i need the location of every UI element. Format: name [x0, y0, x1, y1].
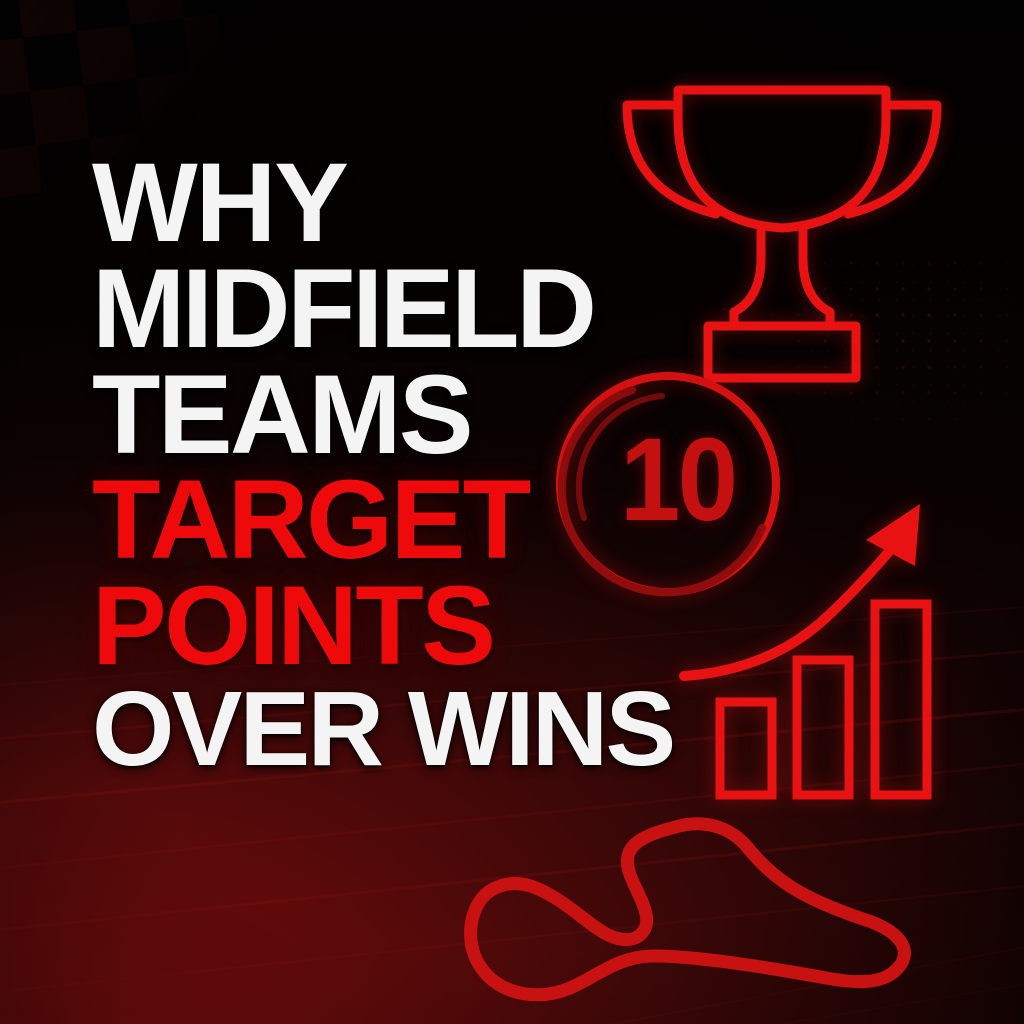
headline-line-4: TARGET — [92, 467, 712, 573]
pixel-texture-icon — [760, 250, 1024, 450]
headline-line-5: POINTS — [92, 573, 712, 679]
headline-line-1: WHY — [92, 150, 712, 256]
headline-line-3: TEAMS — [92, 362, 712, 468]
race-track-icon — [430, 800, 950, 1010]
growth-chart-icon — [668, 488, 964, 810]
headline-line-2: MIDFIELD — [92, 256, 712, 362]
poster-canvas: 10 WHY MIDFIELD TEAMS TARGET POINTS OVER… — [0, 0, 1024, 1024]
headline-block: WHY MIDFIELD TEAMS TARGET POINTS OVER WI… — [92, 150, 712, 779]
headline-line-6: OVER WINS — [92, 679, 712, 779]
